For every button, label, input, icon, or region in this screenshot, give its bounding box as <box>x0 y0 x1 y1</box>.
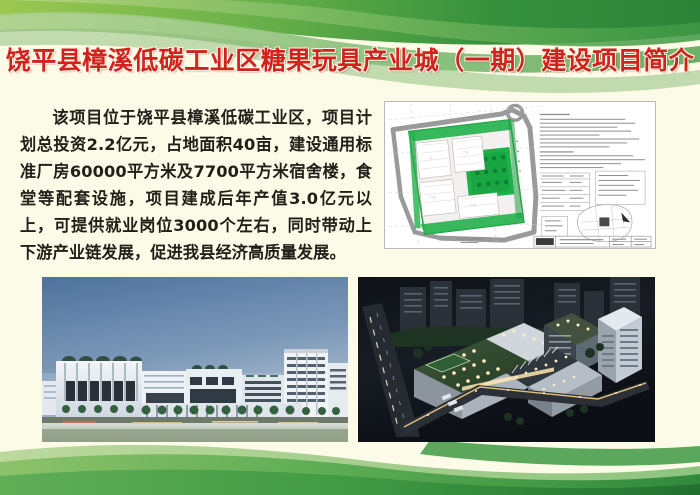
daytime-rendering-figure <box>42 277 348 442</box>
project-description-text: 该项目位于饶平县樟溪低碳工业区，项目计划总投资2.2亿元，占地面积40亩，建设通… <box>20 104 372 266</box>
svg-text:厂房: 厂房 <box>470 203 476 208</box>
poster-title-band: 饶平县樟溪低碳工业区糖果玩具产业城（一期）建设项目简介 <box>0 38 700 80</box>
page-title: 饶平县樟溪低碳工业区糖果玩具产业城（一期）建设项目简介 <box>6 41 695 77</box>
svg-text:厂房: 厂房 <box>430 195 436 200</box>
siteplan-figure: 厂房 厂房 厂房 厂房 <box>384 101 656 249</box>
project-description-column: 该项目位于饶平县樟溪低碳工业区，项目计划总投资2.2亿元，占地面积40亩，建设通… <box>20 104 372 266</box>
night-rendering-label: 厂区夜景鸟瞰效果图 <box>0 0 1 1</box>
bottom-wave-group <box>0 440 700 495</box>
svg-text:厂房: 厂房 <box>462 149 468 154</box>
svg-text:厂房: 厂房 <box>427 155 433 160</box>
project-introduction-poster: 饶平县樟溪低碳工业区糖果玩具产业城（一期）建设项目简介 该项目位于饶平县樟溪低碳… <box>0 0 700 495</box>
daytime-rendering-label: 厂区日景效果图 <box>0 0 1 1</box>
siteplan-figure-label: 总平面规划图 <box>0 0 1 1</box>
night-aerial-rendering-figure <box>358 277 655 442</box>
